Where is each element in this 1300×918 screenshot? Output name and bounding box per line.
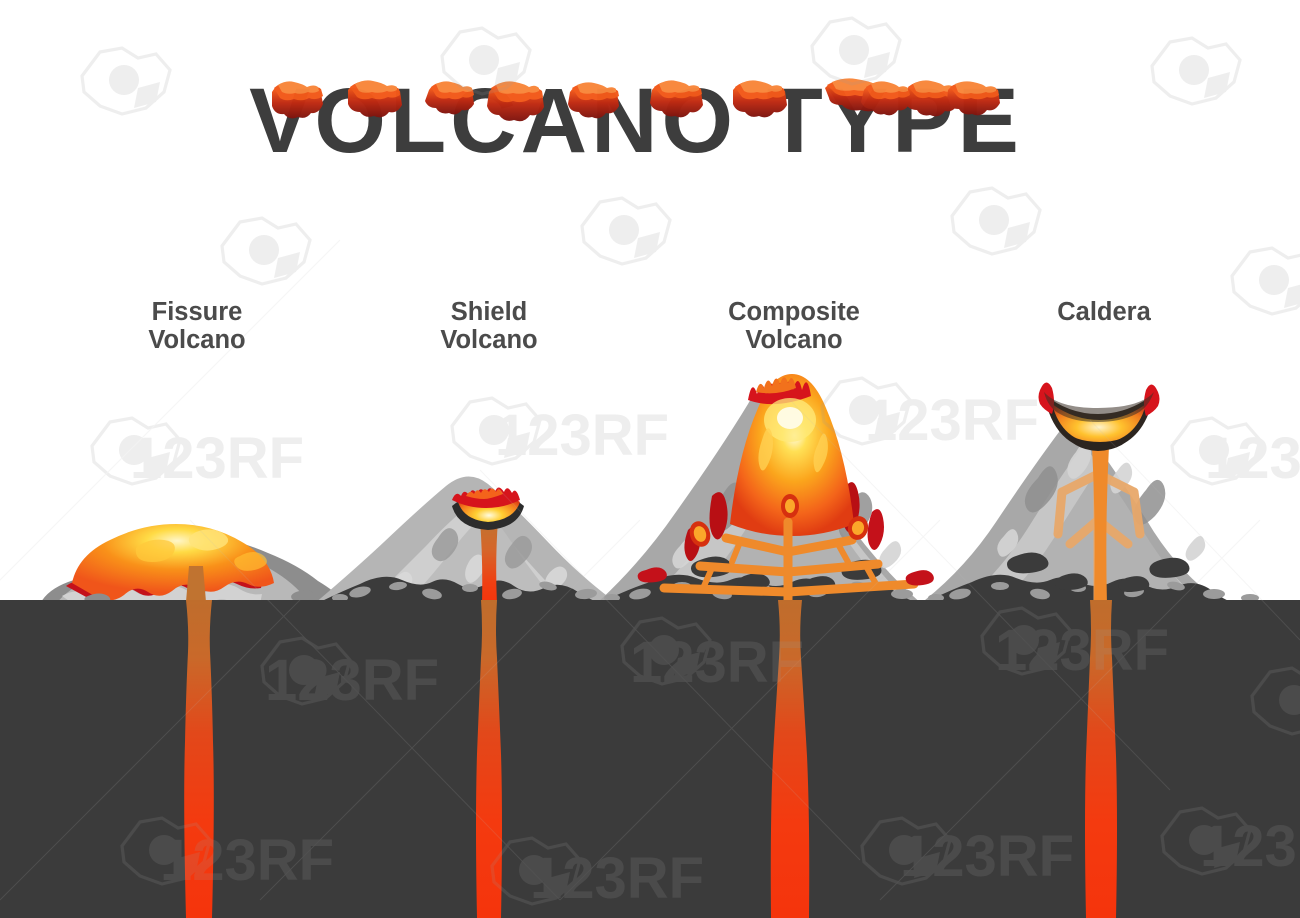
watermark-text: 123RF [1200,814,1300,879]
label-shield: Shield Volcano [440,298,537,354]
watermark-text: 123RF [265,648,439,713]
label-caldera-line1: Caldera [1057,298,1151,326]
label-composite-line1: Composite [728,298,860,326]
label-fissure-line2: Volcano [148,326,245,354]
watermark-text: 123RF [495,403,669,468]
label-fissure-line1: Fissure [152,298,243,326]
watermark-text: 123RF [530,846,704,911]
watermark-text: 123RF [630,630,804,695]
label-composite: Composite Volcano [728,298,860,354]
watermark-text: 123RF [995,618,1169,683]
label-shield-line1: Shield [451,298,528,326]
infographic-canvas: VOLCANO TYPE [0,0,1300,918]
volcano-type-illustration: VOLCANO TYPE [0,0,1300,918]
label-fissure: Fissure Volcano [148,298,245,354]
label-composite-line2: Volcano [745,326,842,354]
watermark-text: 123RF [900,824,1074,889]
label-caldera: Caldera [1057,298,1151,326]
label-shield-line2: Volcano [440,326,537,354]
watermark-text: 123RF [1205,426,1300,491]
watermark-text: 123RF [160,828,334,893]
watermark-text: 123RF [865,388,1039,453]
watermark-text: 123RF [130,426,304,491]
